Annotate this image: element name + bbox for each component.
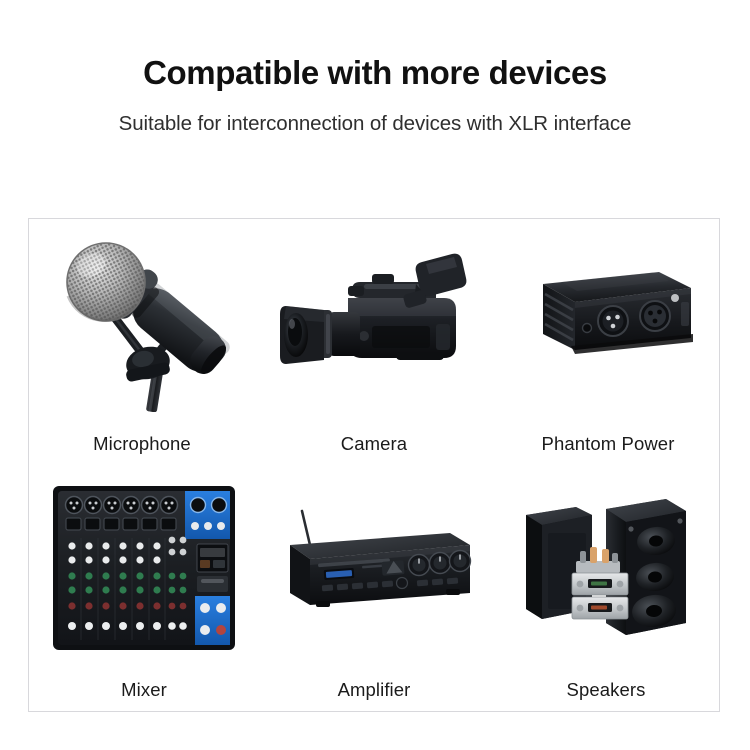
microphone-illustration <box>29 219 259 427</box>
device-cell-amplifier: Amplifier <box>259 465 489 711</box>
device-label-amplifier: Amplifier <box>338 673 411 701</box>
device-label-mixer: Mixer <box>121 673 167 701</box>
phantom-power-led <box>671 294 679 302</box>
device-cell-camera: Camera <box>259 219 489 465</box>
device-compatibility-card: Microphone <box>28 218 720 712</box>
device-cell-microphone: Microphone <box>29 219 259 465</box>
speaker-corner-screw <box>677 518 682 523</box>
mixer-illustration <box>29 465 259 673</box>
camera-illustration <box>259 219 489 427</box>
audio-mixer-icon <box>45 478 243 658</box>
page-title: Compatible with more devices <box>0 0 750 92</box>
mic-grille <box>67 243 145 321</box>
device-label-speakers: Speakers <box>567 673 646 701</box>
phantom-dc-jack <box>583 324 592 333</box>
amplifier-illustration <box>259 465 489 673</box>
microphone-icon <box>44 230 244 412</box>
speakers-icon <box>514 485 694 647</box>
compatibility-page: Compatible with more devices Suitable fo… <box>0 0 750 750</box>
xlr-male-connector <box>598 306 628 336</box>
stereo-component-lower <box>572 597 628 619</box>
device-grid: Microphone <box>29 219 719 711</box>
xlr-female-connector <box>640 301 670 331</box>
device-cell-mixer: Mixer <box>29 465 259 711</box>
amplifier-knob-2[interactable] <box>430 553 451 574</box>
amplifier-foot-left <box>316 601 330 607</box>
amplifier-knob-3[interactable] <box>450 551 471 572</box>
amplifier-knob-1[interactable] <box>409 555 430 576</box>
device-label-camera: Camera <box>341 427 407 455</box>
device-cell-speakers: Speakers <box>489 465 719 711</box>
camera-lens <box>280 306 360 364</box>
device-label-phantom-power: Phantom Power <box>542 427 675 455</box>
speaker-tweeter-screw <box>628 526 633 531</box>
mixer-effects-display <box>197 544 228 592</box>
device-label-microphone: Microphone <box>93 427 191 455</box>
mixer-blue-master-section <box>195 596 230 645</box>
amplifier-receiver-icon <box>274 501 474 619</box>
phantom-power-supply-icon <box>509 254 699 366</box>
amplifier-antenna <box>302 511 310 545</box>
page-subtitle: Suitable for interconnection of devices … <box>0 92 750 137</box>
page-header: Compatible with more devices Suitable fo… <box>0 0 750 137</box>
amplifier-small-knob[interactable] <box>397 578 408 589</box>
phantom-power-illustration <box>489 219 719 427</box>
camera-body <box>348 298 456 360</box>
amplifier-foot-right <box>446 589 460 595</box>
speaker-drivers <box>630 525 677 629</box>
camcorder-icon <box>276 240 472 390</box>
stereo-component-upper <box>572 573 628 595</box>
phantom-vent <box>681 302 689 326</box>
amplifier-center-badge <box>382 560 405 576</box>
speakers-illustration <box>489 465 719 673</box>
device-cell-phantom-power: Phantom Power <box>489 219 719 465</box>
